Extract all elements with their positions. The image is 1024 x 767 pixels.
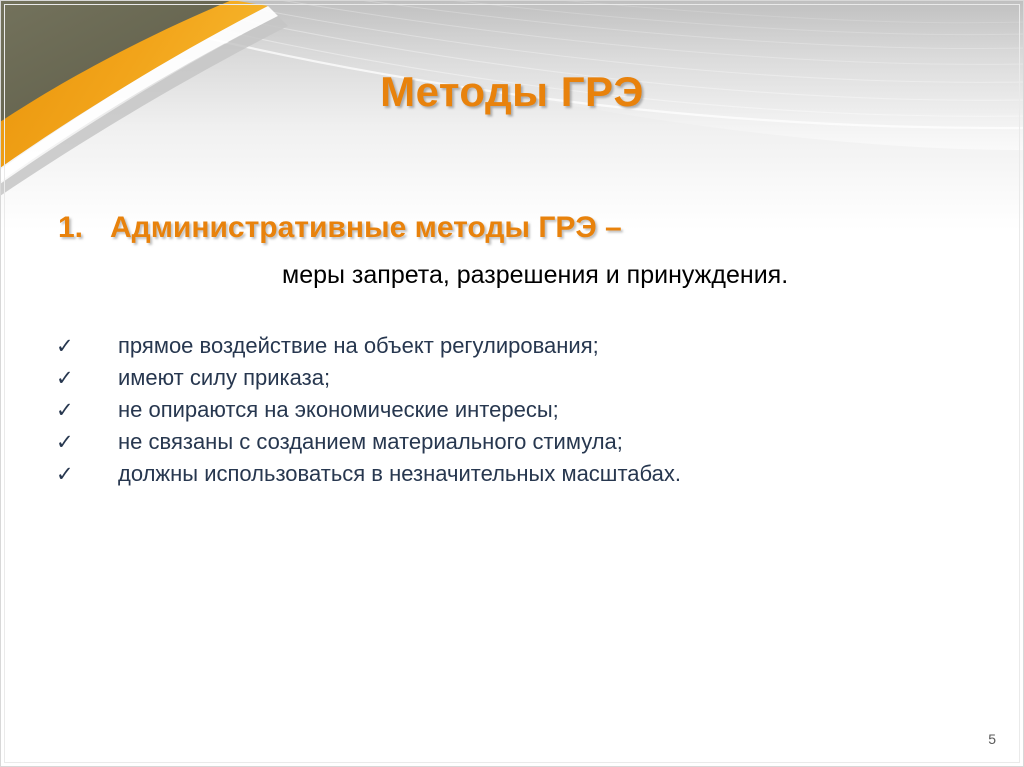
checkmark-list: ✓ прямое воздействие на объект регулиров… [56,333,681,493]
list-item: ✓ имеют силу приказа; [56,365,681,397]
heading-number: 1. [58,211,110,245]
check-icon: ✓ [56,368,118,389]
slide-title: Методы ГРЭ [0,68,1024,116]
check-icon: ✓ [56,336,118,357]
list-item: ✓ должны использоваться в незначительных… [56,461,681,493]
list-item-label: прямое воздействие на объект регулирован… [118,333,599,359]
heading-text: Административные методы ГРЭ – [110,211,622,245]
list-item: ✓ не связаны с созданием материального с… [56,429,681,461]
check-icon: ✓ [56,464,118,485]
list-item-label: не связаны с созданием материального сти… [118,429,623,455]
list-item: ✓ не опираются на экономические интересы… [56,397,681,429]
check-icon: ✓ [56,400,118,421]
slide-background-art [0,0,1024,300]
subheading-text: меры запрета, разрешения и принуждения. [282,261,788,290]
list-item-label: должны использоваться в незначительных м… [118,461,681,487]
page-number: 5 [988,731,996,747]
list-item-label: имеют силу приказа; [118,365,330,391]
check-icon: ✓ [56,432,118,453]
list-item-label: не опираются на экономические интересы; [118,397,559,423]
list-item: ✓ прямое воздействие на объект регулиров… [56,333,681,365]
presentation-slide: Методы ГРЭ 1. Административные методы ГР… [0,0,1024,767]
numbered-heading: 1. Административные методы ГРЭ – [58,211,622,245]
